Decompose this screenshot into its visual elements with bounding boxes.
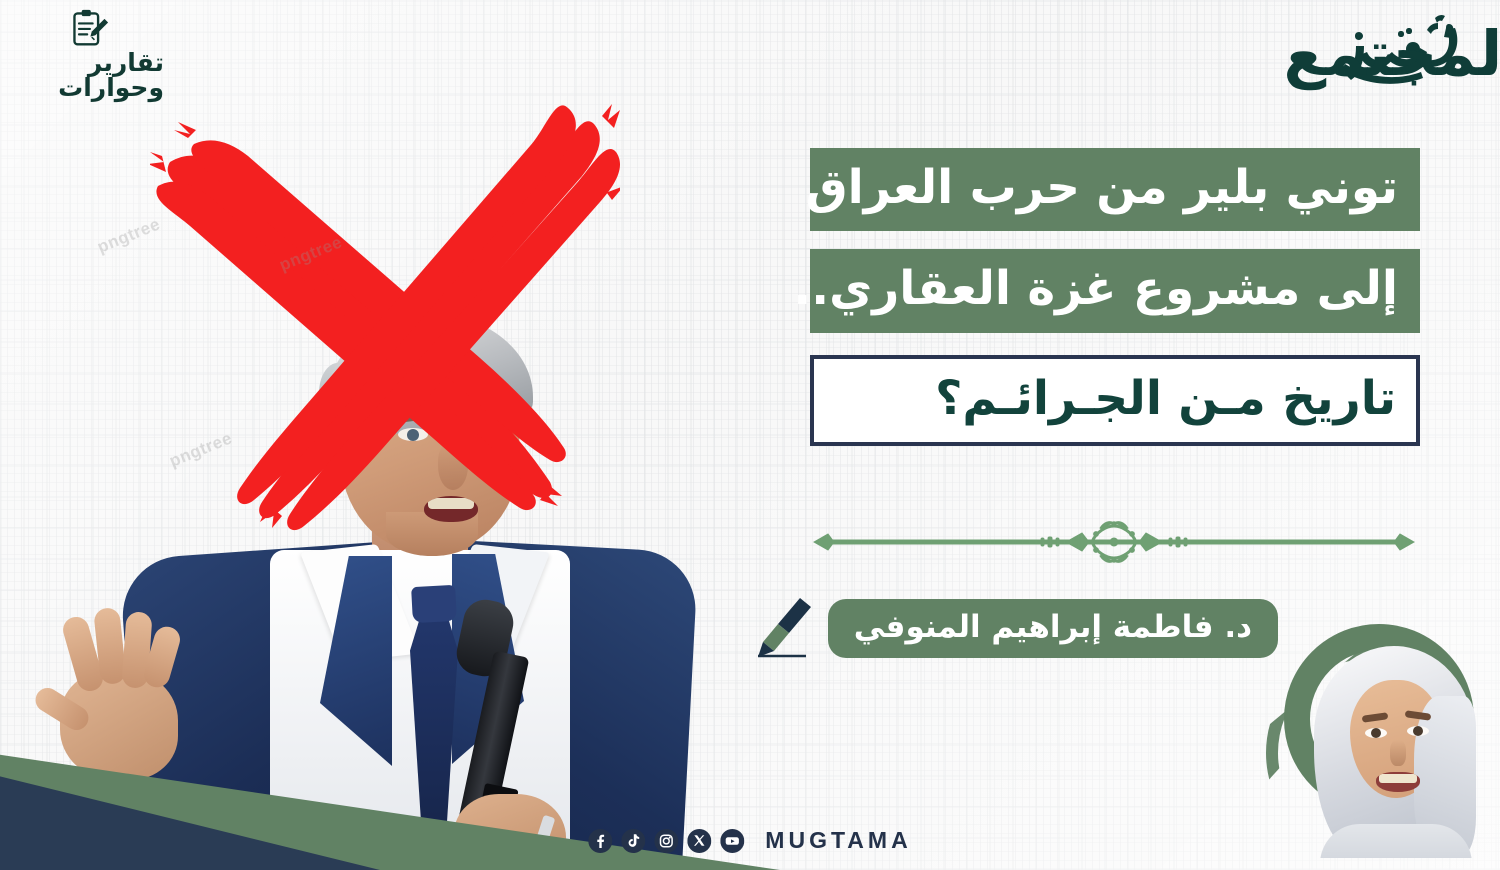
eye-right bbox=[1407, 726, 1429, 736]
category-label: تقارير وحوارات bbox=[14, 50, 164, 100]
headline-stack: توني بلير من حرب العراق إلى مشروع غزة ال… bbox=[810, 148, 1420, 446]
brand-wordmark: MUGTAMA bbox=[765, 827, 911, 854]
pen-icon bbox=[754, 596, 814, 660]
youtube-icon[interactable] bbox=[720, 829, 744, 853]
poster-canvas: 5 bbox=[0, 0, 1500, 870]
clipboard-pen-icon bbox=[66, 8, 112, 48]
category-badge[interactable]: تقارير وحوارات bbox=[14, 8, 164, 100]
headline-line-3: تاريخ مـن الجـرائـم؟ bbox=[810, 355, 1420, 446]
headline-line-2: إلى مشروع غزة العقاري.. bbox=[810, 249, 1420, 332]
author-avatar bbox=[1262, 612, 1482, 862]
nose bbox=[1390, 740, 1406, 766]
headline-line-1: توني بلير من حرب العراق bbox=[810, 148, 1420, 231]
shoulders bbox=[1320, 824, 1472, 858]
hero-photo: 5 bbox=[0, 0, 700, 870]
mugtama-logo-text: المجتمع bbox=[1331, 2, 1476, 106]
red-x-brush-mark bbox=[150, 90, 620, 540]
mugtama-logo[interactable]: المجتمع bbox=[1331, 6, 1476, 110]
ornamental-divider bbox=[808, 518, 1420, 566]
author-name: د. فاطمة إبراهيم المنوفي bbox=[828, 599, 1278, 658]
tiktok-icon[interactable] bbox=[621, 829, 645, 853]
instagram-icon[interactable] bbox=[654, 829, 678, 853]
necktie-knot bbox=[411, 585, 457, 623]
facebook-icon[interactable] bbox=[588, 829, 612, 853]
mouth bbox=[1376, 772, 1420, 792]
eye-left bbox=[1365, 728, 1387, 738]
teeth bbox=[1379, 774, 1417, 783]
social-footer: MUGTAMA bbox=[588, 827, 911, 854]
avatar-photo bbox=[1310, 640, 1478, 858]
byline-row: د. فاطمة إبراهيم المنوفي bbox=[754, 596, 1278, 660]
x-twitter-icon[interactable] bbox=[687, 829, 711, 853]
hand-left bbox=[42, 612, 192, 782]
